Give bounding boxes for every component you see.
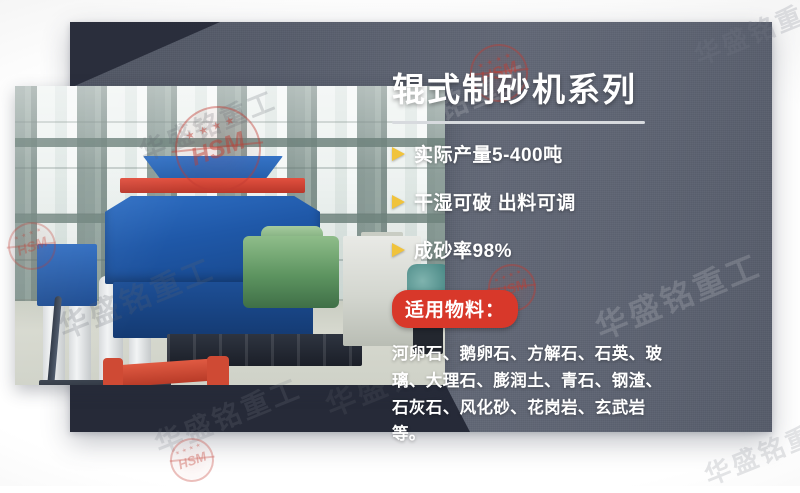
arrow-bullet-icon [392,147,405,161]
title-divider [392,121,645,124]
feature-list: 实际产量5-400吨 干湿可破 出料可调 成砂率98% [392,140,692,263]
feature-item: 成砂率98% [392,236,692,263]
hsm-logo-swoosh [169,456,214,463]
product-info-panel: 辊式制砂机系列 实际产量5-400吨 干湿可破 出料可调 成砂率98% 适用物料… [392,72,692,448]
hsm-logo-stars: ★ ★ ★ ★ [169,440,209,459]
photo-blue-unit-left [37,244,97,306]
hsm-logo-icon: ★ ★ ★ ★ HSM [164,432,220,488]
arrow-bullet-icon [392,195,405,209]
product-photo: 华盛铭重工 华盛铭重工 ★ ★ ★ ★ HSM [15,86,445,385]
feature-item: 干湿可破 出料可调 [392,188,692,215]
photo-green-motor [243,236,339,308]
materials-text: 河卵石、鹅卵石、方解石、石英、玻璃、大理石、膨润土、青石、钢渣、石灰石、风化砂、… [392,341,674,448]
arrow-bullet-icon [392,243,405,257]
feature-label: 成砂率98% [414,236,512,263]
materials-badge: 适用物料： [392,290,518,328]
feature-label: 实际产量5-400吨 [414,140,563,167]
page-canvas: 华盛铭重工 华盛铭重工 华盛铭重工 ★ ★ ★ ★ HSM ★ ★ ★ ★ HS… [0,0,800,486]
feature-item: 实际产量5-400吨 [392,140,692,167]
photo-red-joint [207,356,229,385]
hsm-logo-text: HSM [176,448,208,472]
photo-red-hopper [120,178,305,193]
photo-wall-beam [15,138,445,147]
photo-red-joint [103,358,123,385]
feature-label: 干湿可破 出料可调 [414,188,576,215]
product-title: 辊式制砂机系列 [392,72,692,108]
